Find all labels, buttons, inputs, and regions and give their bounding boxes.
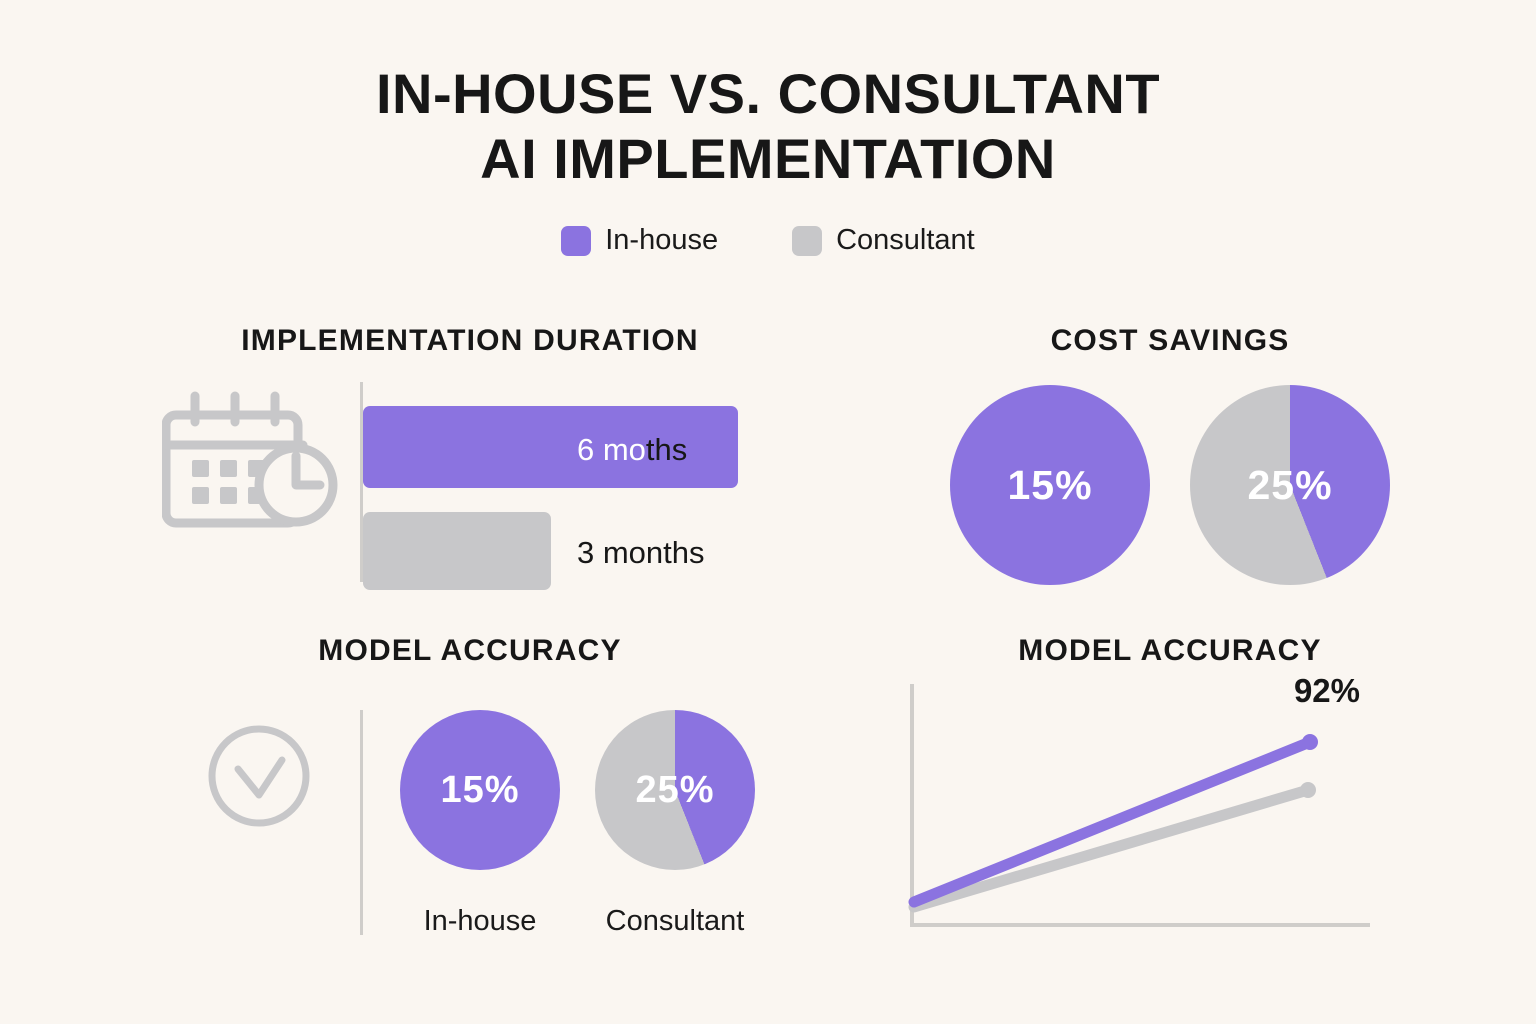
bar-consultant bbox=[363, 512, 551, 590]
section-title-implementation-duration: IMPLEMENTATION DURATION bbox=[150, 324, 790, 358]
section-title-cost-savings: COST SAVINGS bbox=[950, 324, 1390, 358]
line-series-in-house bbox=[914, 742, 1310, 902]
page-title: IN-HOUSE VS. CONSULTANT AI IMPLEMENTATIO… bbox=[0, 62, 1536, 192]
legend-swatch-gray-icon bbox=[792, 226, 822, 256]
bar-value-in-house: 6 moths bbox=[577, 432, 687, 468]
check-circle-icon bbox=[205, 722, 313, 830]
bar-value-in-house-outside: ths bbox=[646, 432, 687, 467]
calendar-clock-icon bbox=[162, 388, 347, 528]
pie-label-accuracy-in-house: 15% bbox=[400, 710, 560, 870]
legend-label-consultant: Consultant bbox=[836, 224, 975, 257]
line-series-consultant bbox=[914, 790, 1308, 907]
legend-item-in-house: In-house bbox=[561, 224, 718, 257]
model-accuracy-pie-chart: 15% 25% In-house Consultant bbox=[150, 690, 810, 970]
section-title-model-accuracy-pies: MODEL ACCURACY bbox=[150, 634, 790, 668]
cost-savings-chart: 15% 25% bbox=[930, 385, 1400, 585]
legend-swatch-purple-icon bbox=[561, 226, 591, 256]
line-chart-end-value: 92% bbox=[1294, 672, 1360, 710]
pie-cost-in-house: 15% bbox=[950, 385, 1150, 585]
pie-caption-consultant: Consultant bbox=[595, 905, 755, 938]
legend-item-consultant: Consultant bbox=[792, 224, 975, 257]
pie-label-accuracy-consultant: 25% bbox=[595, 710, 755, 870]
line-endpoint-consultant bbox=[1300, 782, 1316, 798]
title-line-2: AI IMPLEMENTATION bbox=[0, 127, 1536, 192]
accuracy-divider bbox=[360, 710, 363, 935]
bar-value-consultant: 3 months bbox=[577, 535, 705, 571]
pie-cost-consultant: 25% bbox=[1190, 385, 1390, 585]
pie-accuracy-consultant: 25% bbox=[595, 710, 755, 870]
chart-legend: In-house Consultant bbox=[0, 224, 1536, 257]
bar-value-in-house-inside: 6 mo bbox=[577, 432, 646, 467]
line-chart-svg bbox=[890, 672, 1390, 952]
model-accuracy-line-chart: 92% bbox=[890, 672, 1390, 952]
section-title-model-accuracy-line: MODEL ACCURACY bbox=[930, 634, 1410, 668]
line-endpoint-in-house bbox=[1302, 734, 1318, 750]
legend-label-in-house: In-house bbox=[605, 224, 718, 257]
pie-label-cost-in-house: 15% bbox=[950, 385, 1150, 585]
infographic-canvas: IN-HOUSE VS. CONSULTANT AI IMPLEMENTATIO… bbox=[0, 0, 1536, 1024]
pie-accuracy-in-house: 15% bbox=[400, 710, 560, 870]
pie-label-cost-consultant: 25% bbox=[1190, 385, 1390, 585]
pie-caption-in-house: In-house bbox=[400, 905, 560, 938]
title-line-1: IN-HOUSE VS. CONSULTANT bbox=[376, 62, 1160, 125]
implementation-duration-chart: 6 moths 3 months bbox=[150, 380, 810, 595]
